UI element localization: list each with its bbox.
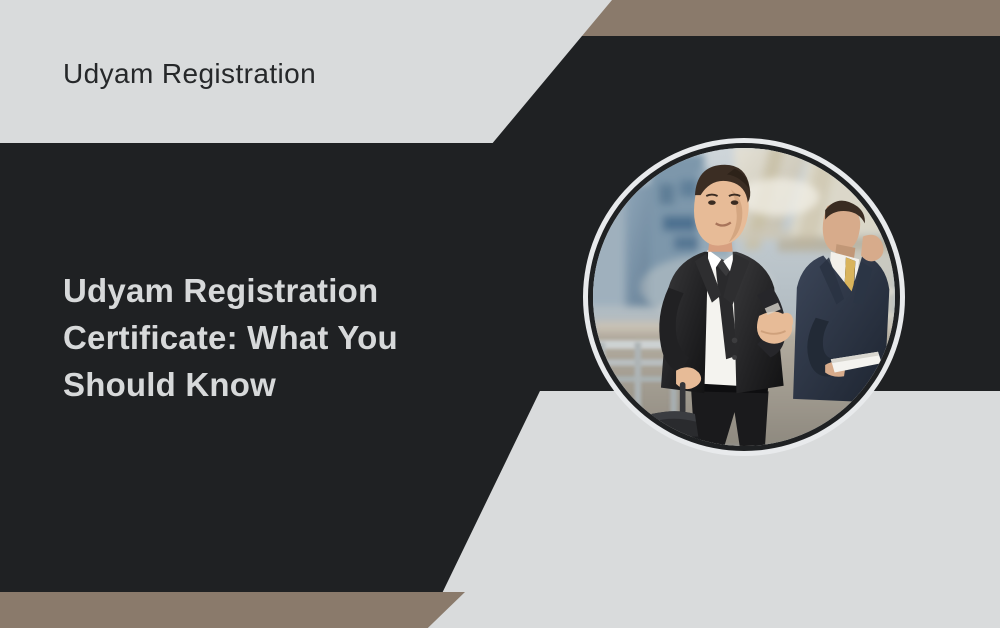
businessmen-walking-illustration — [593, 148, 895, 446]
circular-photo-frame — [583, 138, 905, 456]
udyam-registration-banner: Udyam Registration Udyam Registration Ce… — [0, 0, 1000, 628]
page-title: Udyam Registration Certificate: What You… — [63, 268, 503, 409]
circular-photo — [593, 148, 895, 446]
bottom-brown-accent-stripe — [0, 592, 465, 628]
brand-title: Udyam Registration — [63, 57, 316, 91]
